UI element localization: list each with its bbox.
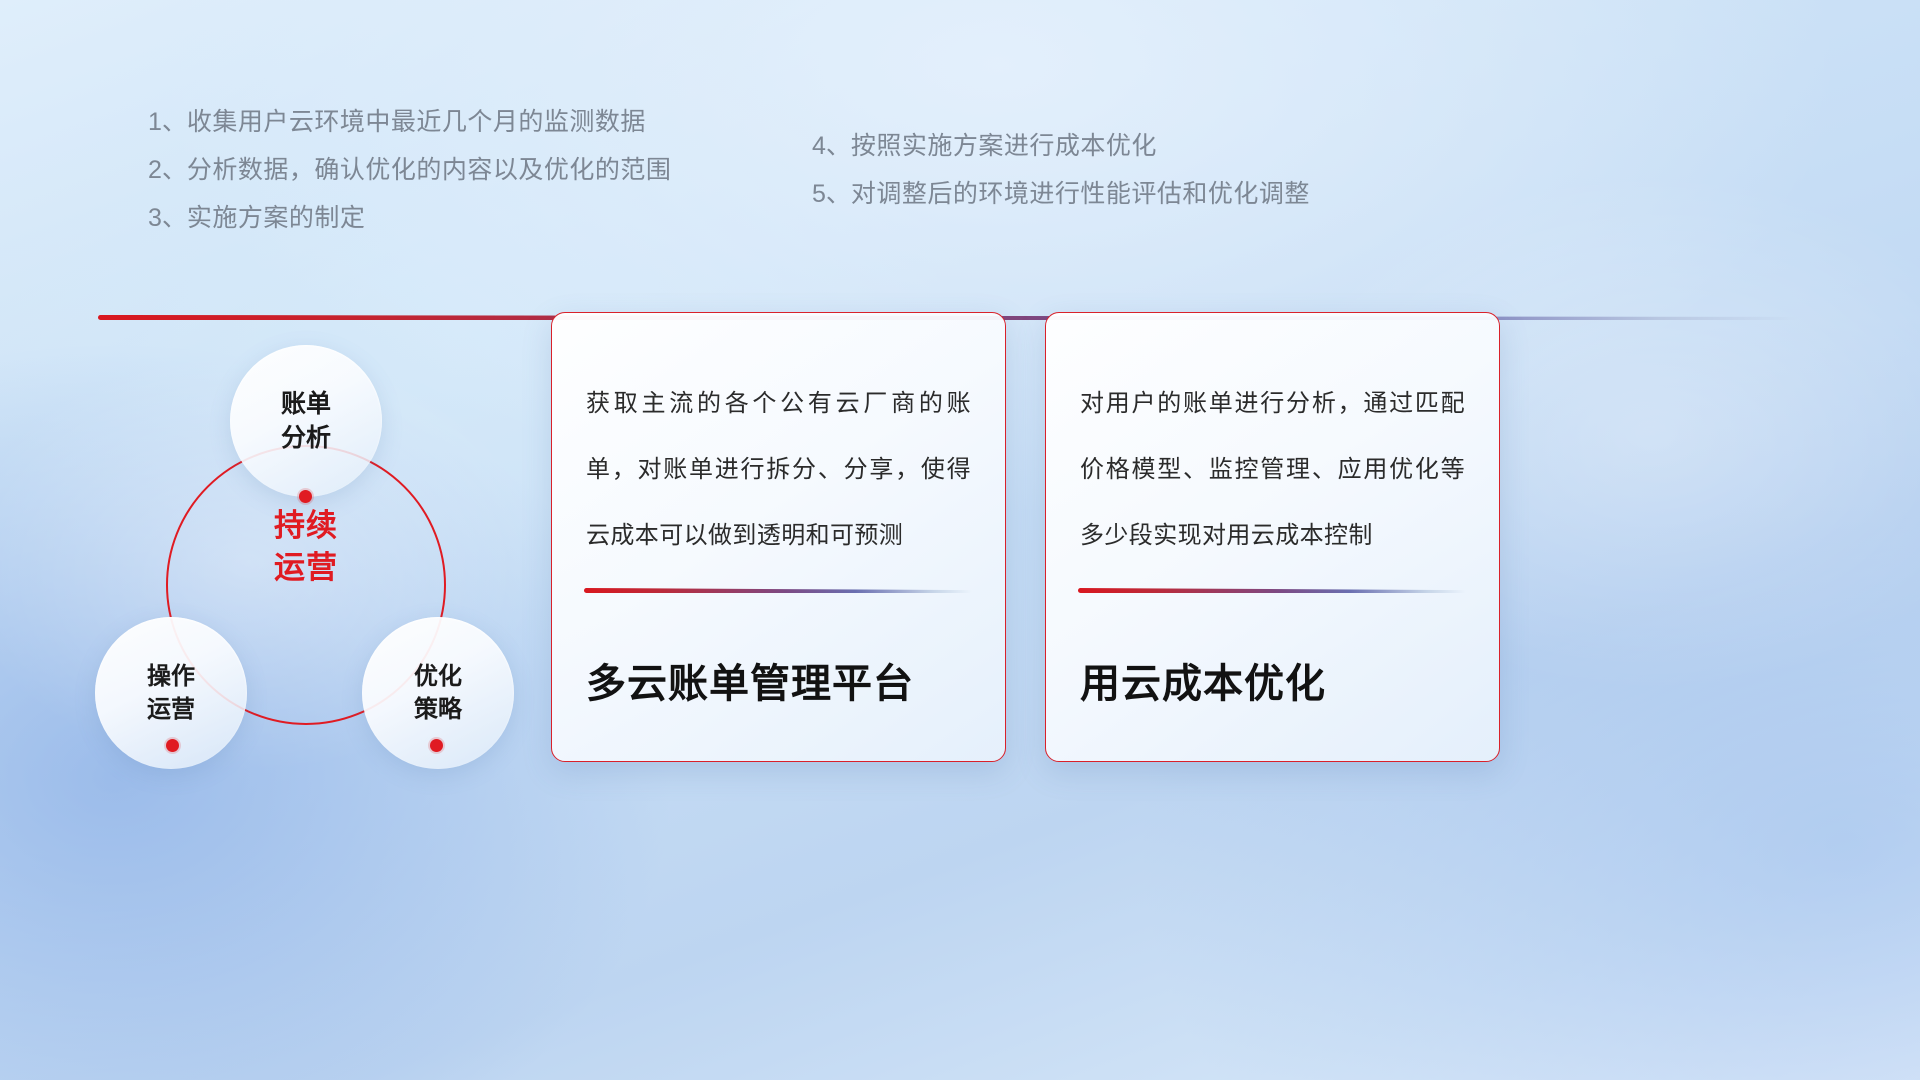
list-item-number: 4、 — [812, 132, 851, 160]
list-item: 5、对调整后的环境进行性能评估和优化调整 — [812, 170, 1472, 218]
center-label-line1: 持续 — [166, 505, 446, 547]
card-divider-rule — [1078, 588, 1466, 593]
list-item: 2、分析数据，确认优化的内容以及优化的范围 — [148, 146, 788, 194]
card-body-text: 获取主流的各个公有云厂商的账单，对账单进行拆分、分享，使得云成本可以做到透明和可… — [586, 371, 971, 569]
list-item-number: 3、 — [148, 204, 187, 232]
feature-card-cost-optimization[interactable]: 对用户的账单进行分析，通过匹配价格模型、监控管理、应用优化等多少段实现对用云成本… — [1045, 312, 1500, 762]
node-dot-icon — [299, 490, 312, 503]
center-label-line2: 运营 — [166, 547, 446, 589]
steps-list-left: 1、收集用户云环境中最近几个月的监测数据 2、分析数据，确认优化的内容以及优化的… — [148, 98, 788, 242]
list-item-number: 5、 — [812, 180, 851, 208]
node-dot-icon — [166, 739, 179, 752]
list-item: 4、按照实施方案进行成本优化 — [812, 122, 1472, 170]
list-item-number: 1、 — [148, 108, 187, 136]
card-title: 用云成本优化 — [1080, 651, 1470, 709]
list-item-label: 收集用户云环境中最近几个月的监测数据 — [187, 108, 646, 136]
card-body-text: 对用户的账单进行分析，通过匹配价格模型、监控管理、应用优化等多少段实现对用云成本… — [1080, 371, 1465, 569]
bubble-label-line2: 策略 — [414, 693, 462, 726]
cycle-diagram: 账单 分析 操作 运营 优化 策略 持续 运营 — [90, 345, 560, 795]
list-item-label: 分析数据，确认优化的内容以及优化的范围 — [187, 156, 672, 184]
list-item: 1、收集用户云环境中最近几个月的监测数据 — [148, 98, 788, 146]
bubble-label-line2: 分析 — [281, 421, 331, 455]
node-dot-icon — [430, 739, 443, 752]
feature-card-multicloud-billing[interactable]: 获取主流的各个公有云厂商的账单，对账单进行拆分、分享，使得云成本可以做到透明和可… — [551, 312, 1006, 762]
card-divider-rule — [584, 588, 972, 593]
list-item: 3、实施方案的制定 — [148, 194, 788, 242]
list-item-label: 按照实施方案进行成本优化 — [851, 132, 1157, 160]
list-item-number: 2、 — [148, 156, 187, 184]
list-item-label: 实施方案的制定 — [187, 204, 366, 232]
bubble-label-line1: 操作 — [147, 660, 195, 693]
bubble-label-line1: 优化 — [414, 660, 462, 693]
list-item-label: 对调整后的环境进行性能评估和优化调整 — [851, 180, 1310, 208]
bubble-label-line1: 账单 — [281, 387, 331, 421]
bubble-label-line2: 运营 — [147, 693, 195, 726]
steps-list-right: 4、按照实施方案进行成本优化 5、对调整后的环境进行性能评估和优化调整 — [812, 122, 1472, 218]
card-title: 多云账单管理平台 — [586, 651, 976, 709]
diagram-center-label: 持续 运营 — [166, 505, 446, 589]
slide-canvas: 1、收集用户云环境中最近几个月的监测数据 2、分析数据，确认优化的内容以及优化的… — [0, 0, 1920, 1080]
bubble-billing-analysis[interactable]: 账单 分析 — [230, 345, 382, 497]
